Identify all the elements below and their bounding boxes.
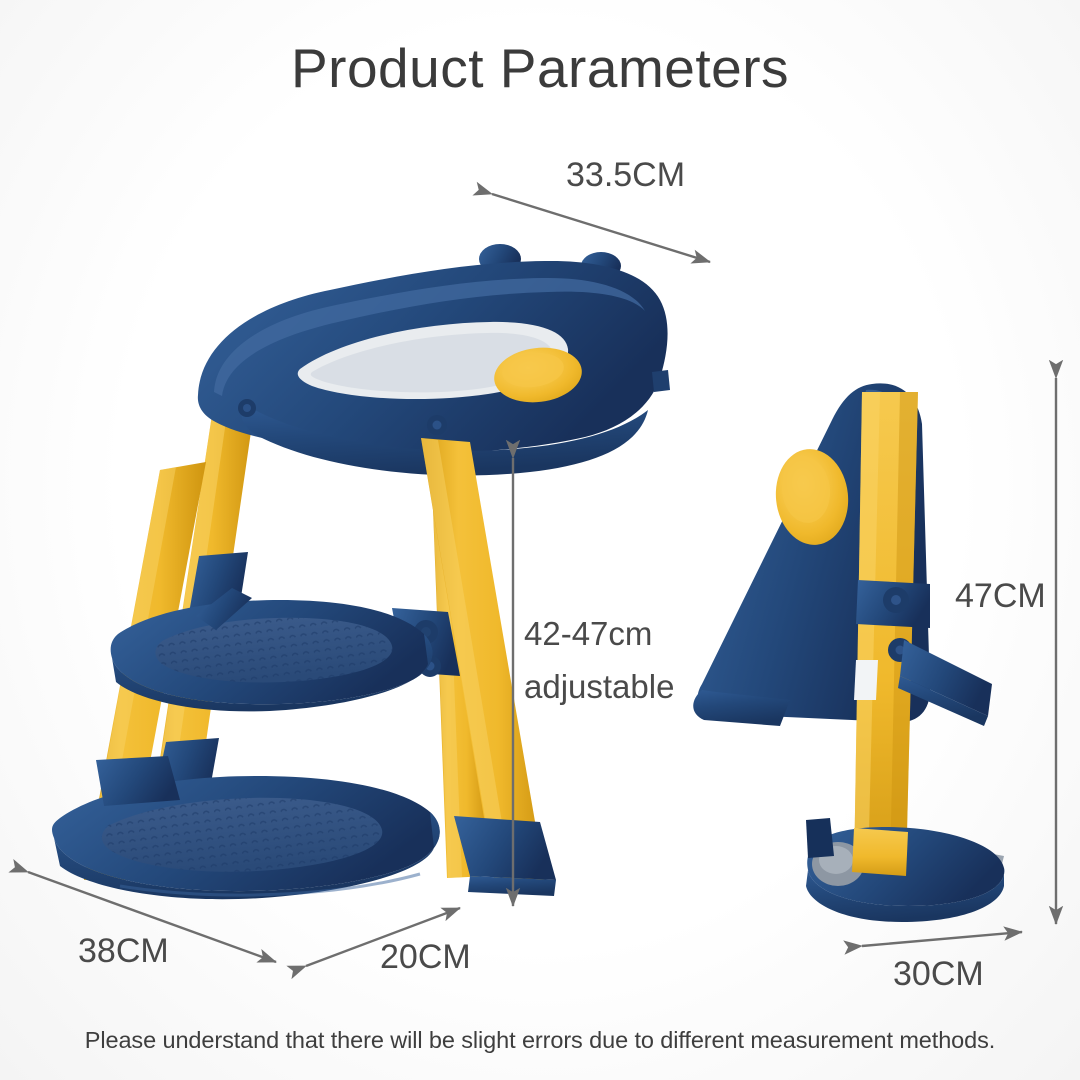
dimension-label-42-47cm-adjustable: 42-47cm adjustable — [524, 607, 674, 713]
folded-leg-column — [854, 392, 918, 872]
folded-base-foot — [806, 818, 1004, 922]
dimension-label-47cm: 47CM — [955, 577, 1046, 616]
dimension-label-30cm: 30CM — [893, 955, 984, 994]
folded-side-view — [0, 0, 1080, 1080]
product-parameters-image: Product Parameters — [0, 0, 1080, 1080]
dimension-label-20cm: 20CM — [380, 938, 471, 977]
dimension-label-33-5cm: 33.5CM — [566, 156, 685, 195]
dimension-label-42-47cm-line2: adjustable — [524, 660, 674, 713]
dimension-label-38cm: 38CM — [78, 932, 169, 971]
dimension-label-42-47cm-line1: 42-47cm — [524, 607, 674, 660]
measurement-disclaimer: Please understand that there will be sli… — [0, 1027, 1080, 1054]
